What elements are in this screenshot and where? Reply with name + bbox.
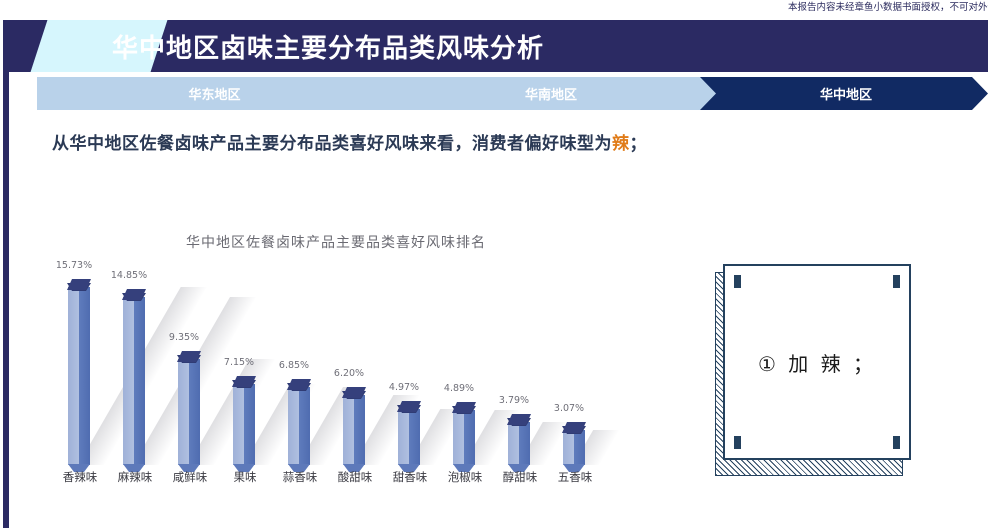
bar-left-face: [508, 422, 519, 465]
region-chevron-nav: 华东地区 华南地区 华中地区: [37, 77, 988, 110]
bar-slot: 6.85%: [272, 260, 328, 465]
bar[interactable]: [563, 430, 585, 465]
bar-value-label: 4.89%: [431, 383, 487, 394]
bar-value-label: 3.79%: [486, 395, 542, 406]
bar-right-face: [189, 359, 200, 465]
page-title: 华中地区卤味主要分布品类风味分析: [112, 20, 544, 72]
bar-left-face: [288, 387, 299, 465]
bar-right-face: [79, 287, 90, 465]
lead-sentence: 从华中地区佐餐卤味产品主要分布品类喜好风味来看，消费者偏好味型为辣；: [52, 129, 647, 154]
watermark-text: 本报告内容未经章鱼小数据书面授权，不可对外传: [788, 0, 988, 15]
nav-item-huazhong-active[interactable]: 华中地区: [700, 77, 988, 110]
callout-body: ① 加 辣 ；: [723, 264, 911, 460]
chart-container: 华中地区佐餐卤味产品主要品类喜好风味排名 15.73%14.85%9.35%7.…: [36, 222, 656, 502]
bar-left-face: [563, 430, 574, 465]
nav-item-huadong[interactable]: 华东地区: [37, 77, 392, 110]
bar-right-face: [354, 395, 365, 465]
bar-left-face: [178, 359, 189, 465]
bar-right-face: [134, 297, 145, 465]
bar-left-face: [453, 410, 464, 465]
bar-slot: 3.07%: [547, 260, 603, 465]
bar[interactable]: [288, 387, 310, 465]
x-axis-label: 甜香味: [382, 469, 438, 485]
bar[interactable]: [233, 384, 255, 465]
bar-slot: 3.79%: [492, 260, 548, 465]
chart-plot-area: 15.73%14.85%9.35%7.15%6.85%6.20%4.97%4.8…: [46, 260, 646, 465]
bar-left-face: [398, 409, 409, 465]
bar-slot: 4.97%: [382, 260, 438, 465]
slide: 本报告内容未经章鱼小数据书面授权，不可对外传 华中地区卤味主要分布品类风味分析 …: [0, 0, 988, 528]
callout-box: ① 加 辣 ；: [723, 264, 911, 468]
bar[interactable]: [68, 287, 90, 465]
bar-value-label: 3.07%: [541, 403, 597, 414]
bar-left-face: [343, 395, 354, 465]
bar-value-label: 15.73%: [46, 260, 102, 271]
bar-slot: 14.85%: [107, 260, 163, 465]
bar-left-face: [68, 287, 79, 465]
bar-slot: 7.15%: [217, 260, 273, 465]
lead-suffix: ；: [630, 134, 648, 154]
nav-item-huanan[interactable]: 华南地区: [360, 77, 732, 110]
bar[interactable]: [398, 409, 420, 465]
x-axis-label: 香辣味: [52, 469, 108, 485]
bar-value-label: 6.85%: [266, 360, 322, 371]
left-accent-strip: [3, 20, 9, 528]
bar-value-label: 7.15%: [211, 357, 267, 368]
x-axis-labels: 香辣味麻辣味咸鲜味果味蒜香味酸甜味甜香味泡椒味醇甜味五香味: [46, 469, 646, 491]
nav-item-label: 华东地区: [188, 84, 240, 103]
x-axis-label: 蒜香味: [272, 469, 328, 485]
lead-highlight: 辣: [612, 134, 630, 154]
x-axis-label: 酸甜味: [327, 469, 383, 485]
bar-right-face: [299, 387, 310, 465]
nav-item-label: 华中地区: [820, 84, 872, 103]
x-axis-label: 麻辣味: [107, 469, 163, 485]
bar[interactable]: [343, 395, 365, 465]
bar-slot: 6.20%: [327, 260, 383, 465]
x-axis-label: 醇甜味: [492, 469, 548, 485]
bar-value-label: 4.97%: [376, 382, 432, 393]
bar[interactable]: [123, 297, 145, 465]
bar-slot: 15.73%: [52, 260, 108, 465]
bar-right-face: [244, 384, 255, 465]
x-axis-label: 五香味: [547, 469, 603, 485]
bar-right-face: [409, 409, 420, 465]
bar-right-face: [574, 430, 585, 465]
bar-left-face: [123, 297, 134, 465]
bar-slot: 9.35%: [162, 260, 218, 465]
bar-value-label: 6.20%: [321, 368, 377, 379]
x-axis-label: 果味: [217, 469, 273, 485]
bar-right-face: [519, 422, 530, 465]
bar[interactable]: [508, 422, 530, 465]
bar-slot: 4.89%: [437, 260, 493, 465]
callout-text: ① 加 辣 ；: [725, 266, 909, 458]
bar-left-face: [233, 384, 244, 465]
bar-value-label: 9.35%: [156, 332, 212, 343]
bar[interactable]: [453, 410, 475, 465]
x-axis-label: 泡椒味: [437, 469, 493, 485]
bar-value-label: 14.85%: [101, 270, 157, 281]
chart-title: 华中地区佐餐卤味产品主要品类喜好风味排名: [36, 232, 636, 252]
lead-prefix: 从华中地区佐餐卤味产品主要分布品类喜好风味来看，消费者偏好味型为: [52, 134, 612, 154]
slide-header: 华中地区卤味主要分布品类风味分析: [9, 20, 988, 72]
bar-right-face: [464, 410, 475, 465]
x-axis-label: 咸鲜味: [162, 469, 218, 485]
nav-item-label: 华南地区: [525, 84, 577, 103]
bar-series: 15.73%14.85%9.35%7.15%6.85%6.20%4.97%4.8…: [46, 260, 646, 465]
bar[interactable]: [178, 359, 200, 465]
